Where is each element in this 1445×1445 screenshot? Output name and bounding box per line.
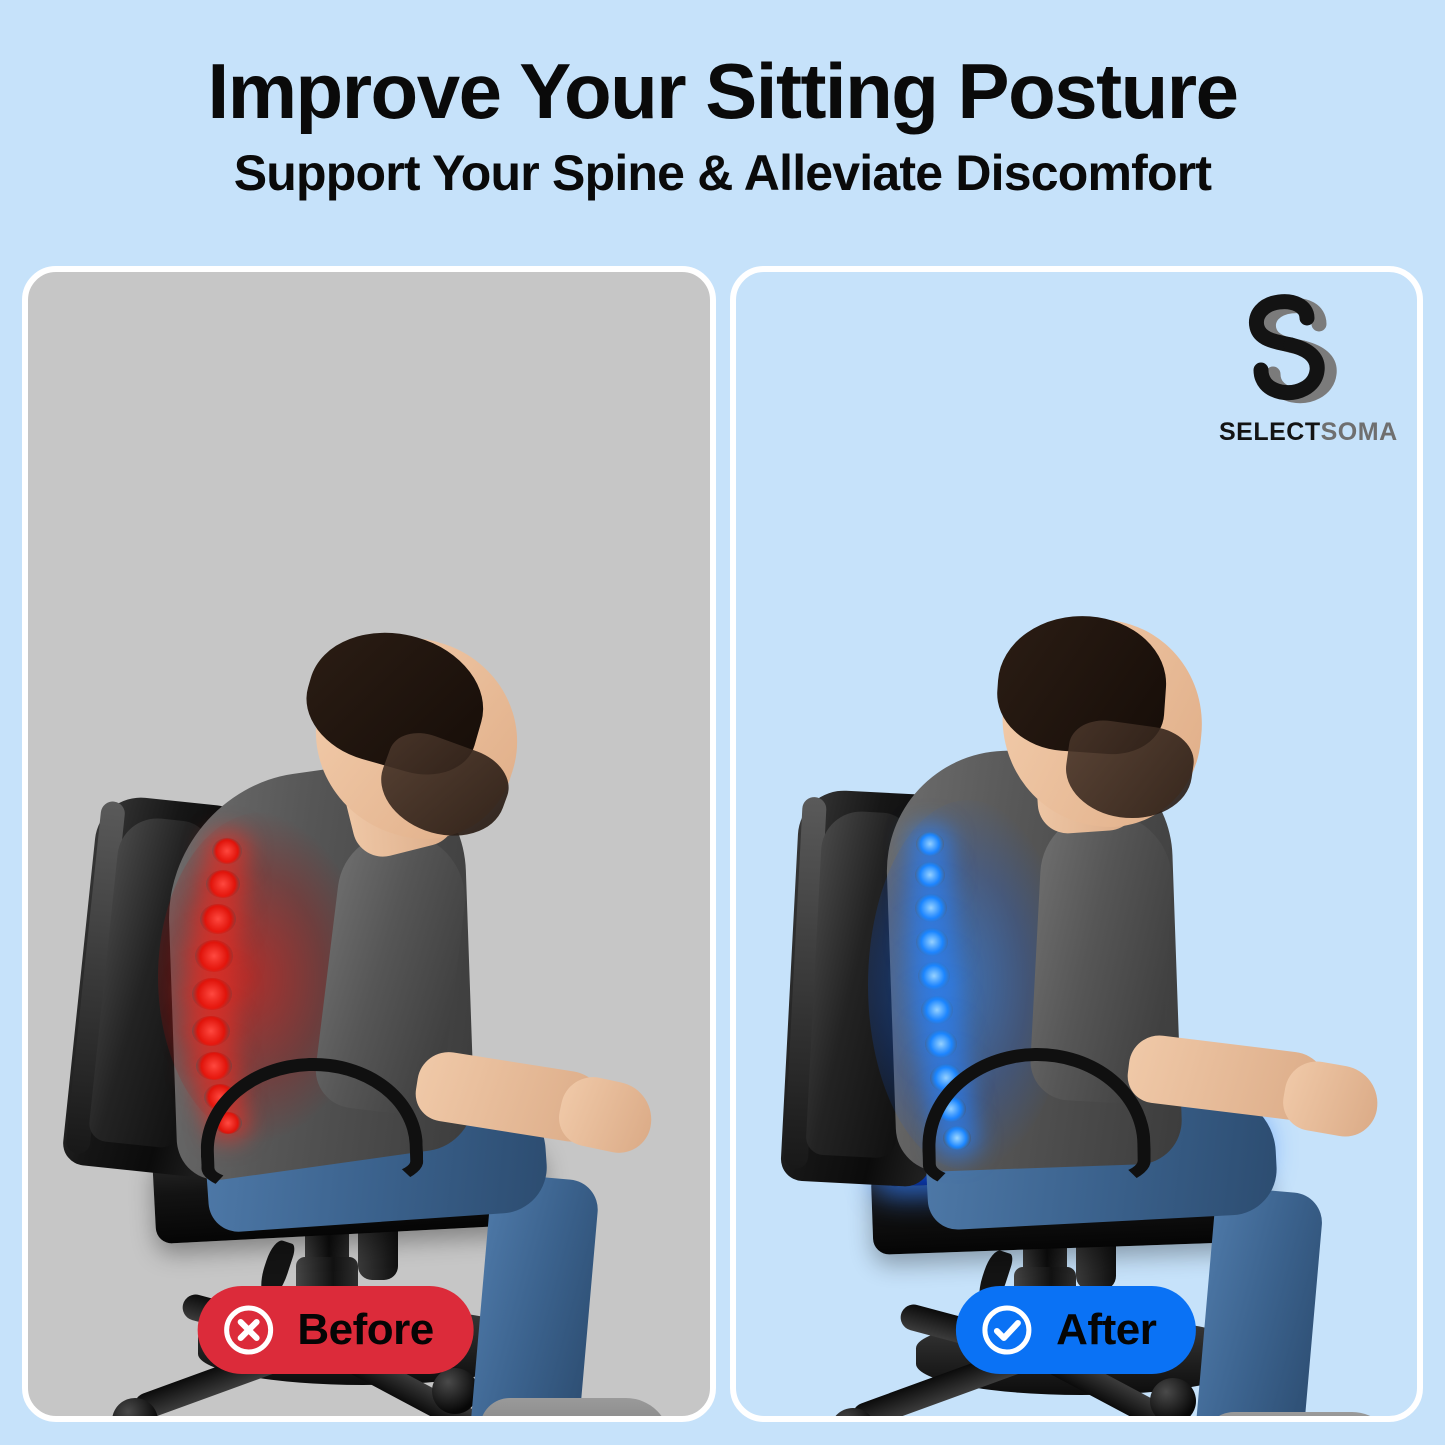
scene-after (736, 272, 1418, 1416)
page-subtitle: Support Your Spine & Alleviate Discomfor… (0, 148, 1445, 198)
circle-check-icon (980, 1303, 1034, 1357)
page-title: Improve Your Sitting Posture (0, 52, 1445, 130)
badge-after: After (956, 1286, 1196, 1374)
comparison-panels: Before SELECTSOMA (22, 266, 1423, 1422)
chair-caster (1150, 1378, 1196, 1422)
badge-before-label: Before (297, 1305, 433, 1355)
figure-hand (1278, 1056, 1383, 1141)
circle-x-icon (221, 1303, 275, 1357)
panel-after: SELECTSOMA (730, 266, 1424, 1422)
panel-before: Before (22, 266, 716, 1422)
badge-after-label: After (1056, 1305, 1156, 1355)
figure-shoe (1204, 1412, 1396, 1422)
header: Improve Your Sitting Posture Support You… (0, 0, 1445, 198)
badge-before: Before (197, 1286, 473, 1374)
scene-before (28, 272, 710, 1416)
figure-shoe (480, 1398, 670, 1422)
